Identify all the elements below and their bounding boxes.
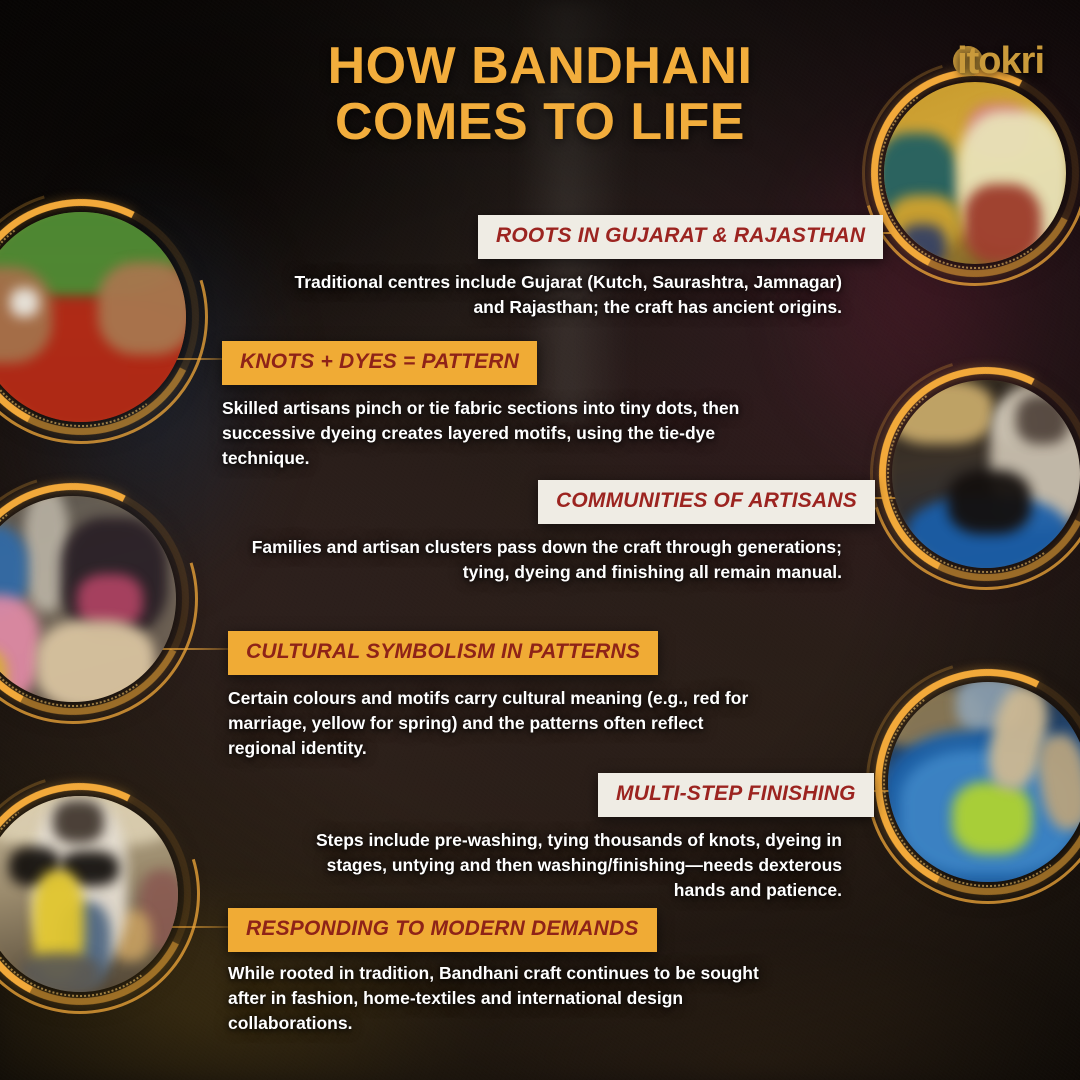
section-body-responding-to-modern-demands: While rooted in tradition, Bandhani craf… [228, 961, 784, 1036]
brand-logo[interactable]: itokri [957, 40, 1044, 83]
section-body-multi-step-finishing: Steps include pre-washing, tying thousan… [312, 828, 842, 903]
section-heading-cultural-symbolism-in-patterns[interactable]: CULTURAL SYMBOLISM IN PATTERNS [228, 631, 658, 675]
section-heading-multi-step-finishing[interactable]: MULTI-STEP FINISHING [598, 773, 874, 817]
section-body-knots-dyes-pattern: Skilled artisans pinch or tie fabric sec… [222, 396, 742, 471]
section-heading-responding-to-modern-demands[interactable]: RESPONDING TO MODERN DEMANDS [228, 908, 657, 952]
page-title: HOW BANDHANI COMES TO LIFE [0, 38, 1080, 150]
section-body-cultural-symbolism-in-patterns: Certain colours and motifs carry cultura… [228, 686, 768, 761]
page-title-line-1: HOW BANDHANI [0, 38, 1080, 94]
photo-dyer-blue-tub [892, 380, 1080, 568]
section-heading-knots-dyes-pattern[interactable]: KNOTS + DYES = PATTERN [222, 341, 537, 385]
section-body-communities-of-artisans: Families and artisan clusters pass down … [240, 535, 842, 585]
brand-logo-text: itokri [957, 40, 1044, 83]
photo-dye-vat-green-swirl [888, 682, 1080, 882]
photo-women-with-cream-cloth [0, 496, 176, 702]
photo-hands-tying-red-fabric [0, 212, 186, 422]
page-title-line-2: COMES TO LIFE [0, 94, 1080, 150]
section-heading-communities-of-artisans[interactable]: COMMUNITIES OF ARTISANS [538, 480, 875, 524]
photo-dyer-yellow-fabric [0, 796, 178, 992]
section-heading-roots-in-gujarat-rajasthan[interactable]: ROOTS IN GUJARAT & RAJASTHAN [478, 215, 883, 259]
section-body-roots-in-gujarat-rajasthan: Traditional centres include Gujarat (Kut… [266, 270, 842, 320]
infographic-canvas: HOW BANDHANI COMES TO LIFE itokri [0, 0, 1080, 1080]
